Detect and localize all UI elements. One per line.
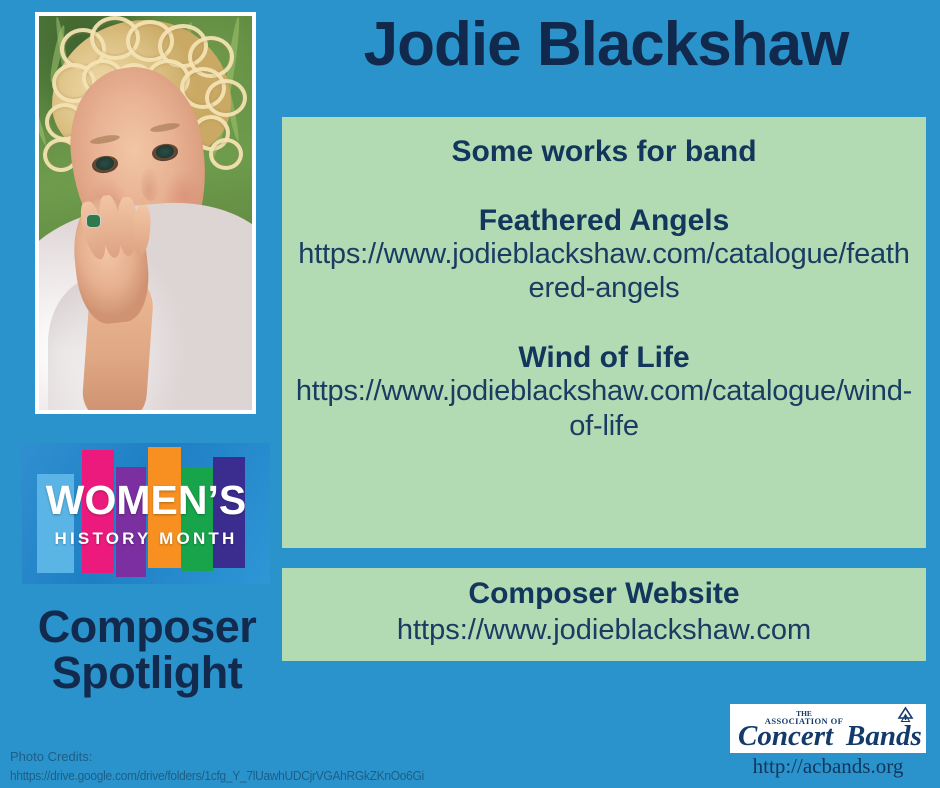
photo-credits-url[interactable]: hhttps://drive.google.com/drive/folders/… (10, 767, 488, 786)
whm-line-2: HISTORY MONTH (55, 530, 238, 547)
work-title: Feathered Angels (282, 204, 926, 237)
acb-concert-text: Concert (738, 720, 834, 752)
composer-portrait-photo (39, 16, 252, 410)
ring (87, 215, 100, 227)
website-panel-heading: Composer Website (282, 577, 926, 610)
spotlight-line-2: Spotlight (14, 650, 280, 696)
work-title: Wind of Life (282, 341, 926, 374)
photo-credits: Photo Credits: hhttps://drive.google.com… (10, 748, 530, 786)
acb-bands-text: Bands (845, 720, 922, 752)
work-item: Wind of Life https://www.jodieblackshaw.… (282, 341, 926, 442)
portrait-photo-frame (35, 12, 256, 414)
works-panel: Some works for band Feathered Angels htt… (282, 117, 926, 548)
acb-website-url[interactable]: http://acbands.org (730, 755, 926, 778)
spotlight-line-1: Composer (14, 604, 280, 650)
work-url[interactable]: https://www.jodieblackshaw.com/catalogue… (282, 237, 926, 305)
whm-line-1: WOMEN’S (46, 480, 246, 521)
composer-website-panel: Composer Website https://www.jodieblacks… (282, 568, 926, 661)
photo-credits-label: Photo Credits: (10, 749, 92, 764)
work-item: Feathered Angels https://www.jodieblacks… (282, 204, 926, 305)
page-title: Jodie Blackshaw (282, 14, 930, 76)
association-of-concert-bands-logo[interactable]: THE ASSOCIATION OF Concert Bands (730, 704, 926, 753)
womens-history-month-logo: WOMEN’S HISTORY MONTH (22, 443, 270, 584)
works-panel-heading: Some works for band (282, 135, 926, 168)
composer-spotlight-poster: WOMEN’S HISTORY MONTH Composer Spotlight… (0, 0, 940, 788)
composer-spotlight-heading: Composer Spotlight (14, 604, 280, 697)
work-url[interactable]: https://www.jodieblackshaw.com/catalogue… (282, 374, 926, 442)
composer-website-url[interactable]: https://www.jodieblackshaw.com (282, 613, 926, 648)
